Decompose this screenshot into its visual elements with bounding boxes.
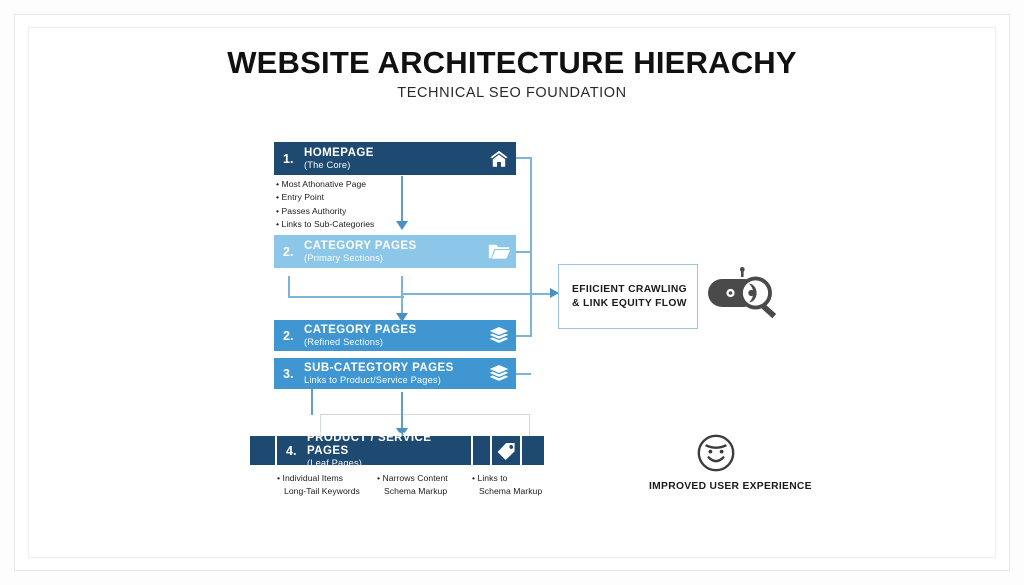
list-item: Entry Point bbox=[276, 191, 374, 204]
level-1-title: HOMEPAGE bbox=[304, 147, 482, 160]
rail-tap-folder bbox=[516, 251, 531, 253]
product-bullets-column-3: Links to Schema Markup bbox=[472, 472, 542, 499]
slide-canvas: WEBSITE ARCHITECTURE HIERACHY TECHNICAL … bbox=[0, 0, 1024, 585]
level-4-number: 3. bbox=[274, 367, 304, 381]
level-5-title: PRODUCT / SERVICE PAGES bbox=[307, 432, 471, 458]
level-2-number: 2. bbox=[274, 245, 304, 259]
rail-vertical bbox=[530, 157, 532, 337]
level-2-category-primary-bar[interactable]: 2. CATEGORY PAGES (Primary Sections) bbox=[274, 235, 482, 268]
level-1-homepage-bar[interactable]: 1. HOMEPAGE (The Core) bbox=[274, 142, 482, 175]
level-3-subtitle: (Refined Sections) bbox=[304, 337, 482, 347]
connector-to-product bbox=[401, 392, 403, 430]
list-item-continuation: Schema Markup bbox=[472, 485, 542, 498]
list-item: Narrows Content bbox=[377, 472, 448, 485]
page-subtitle: TECHNICAL SEO FOUNDATION bbox=[0, 85, 1024, 101]
level-5-subtitle: (Leaf Pages) bbox=[307, 458, 471, 468]
product-row-right-stub bbox=[522, 436, 544, 465]
product-bullets-column-1: Individual Items Long-Tail Keywords bbox=[277, 472, 360, 499]
level-1-subtitle: (The Core) bbox=[304, 160, 482, 170]
product-row-left-stub bbox=[250, 436, 275, 465]
level-4-subtitle: Links to Product/Service Pages) bbox=[304, 375, 482, 385]
level-4-title: SUB-CATEGTORY PAGES bbox=[304, 362, 482, 375]
list-item-continuation: Schema Markup bbox=[377, 485, 448, 498]
crawl-line-1: EFIICIENT CRAWLING bbox=[572, 283, 692, 297]
tag-icon bbox=[492, 436, 520, 465]
level-2-subtitle: (Primary Sections) bbox=[304, 253, 482, 263]
layers-icon bbox=[482, 358, 516, 389]
level-3-title: CATEGORY PAGES bbox=[304, 324, 482, 337]
smiley-face-icon bbox=[693, 430, 739, 476]
connector-branch-left bbox=[288, 276, 290, 298]
level-3-number: 2. bbox=[274, 329, 304, 343]
connector-branch-horizontal bbox=[288, 296, 404, 298]
connector-bracket-top bbox=[320, 414, 530, 415]
layers-icon bbox=[482, 320, 516, 351]
connector-l4-down bbox=[311, 389, 313, 415]
list-item: Passes Authority bbox=[276, 205, 374, 218]
connector-bracket-right bbox=[529, 414, 530, 437]
product-row-spacer-segment bbox=[473, 436, 490, 465]
connector-to-crawl-callout bbox=[403, 293, 551, 295]
list-item: Links to bbox=[472, 472, 542, 485]
list-item: Links to Sub-Categories bbox=[276, 218, 374, 231]
page-title: WEBSITE ARCHITECTURE HIERACHY bbox=[0, 45, 1024, 81]
homepage-bullet-list: Most Athonative Page Entry Point Passes … bbox=[276, 178, 374, 231]
level-5-number: 4. bbox=[277, 444, 307, 458]
improved-user-experience-label: IMPROVED USER EXPERIENCE bbox=[649, 481, 812, 492]
level-1-number: 1. bbox=[274, 152, 304, 166]
list-item: Individual Items bbox=[277, 472, 360, 485]
level-2-title: CATEGORY PAGES bbox=[304, 240, 482, 253]
folder-icon bbox=[482, 235, 516, 268]
connector-l1-l2 bbox=[401, 176, 403, 222]
rail-tap-layers-1 bbox=[516, 335, 531, 337]
crawler-bot-icon bbox=[706, 266, 790, 322]
home-icon bbox=[482, 142, 516, 175]
arrow-l1-l2 bbox=[396, 221, 408, 230]
rail-tap-home bbox=[516, 157, 531, 159]
level-4-subcategory-bar[interactable]: 3. SUB-CATEGTORY PAGES Links to Product/… bbox=[274, 358, 482, 389]
level-3-category-refined-bar[interactable]: 2. CATEGORY PAGES (Refined Sections) bbox=[274, 320, 482, 351]
level-5-product-bar[interactable]: 4. PRODUCT / SERVICE PAGES (Leaf Pages) bbox=[277, 436, 471, 465]
list-item-continuation: Long-Tail Keywords bbox=[277, 485, 360, 498]
list-item: Most Athonative Page bbox=[276, 178, 374, 191]
product-bullets-column-2: Narrows Content Schema Markup bbox=[377, 472, 448, 499]
crawl-line-2: & LINK EQUITY FLOW bbox=[572, 297, 692, 311]
rail-tap-layers-2 bbox=[516, 373, 531, 375]
efficient-crawling-label: EFIICIENT CRAWLING & LINK EQUITY FLOW bbox=[572, 283, 692, 311]
